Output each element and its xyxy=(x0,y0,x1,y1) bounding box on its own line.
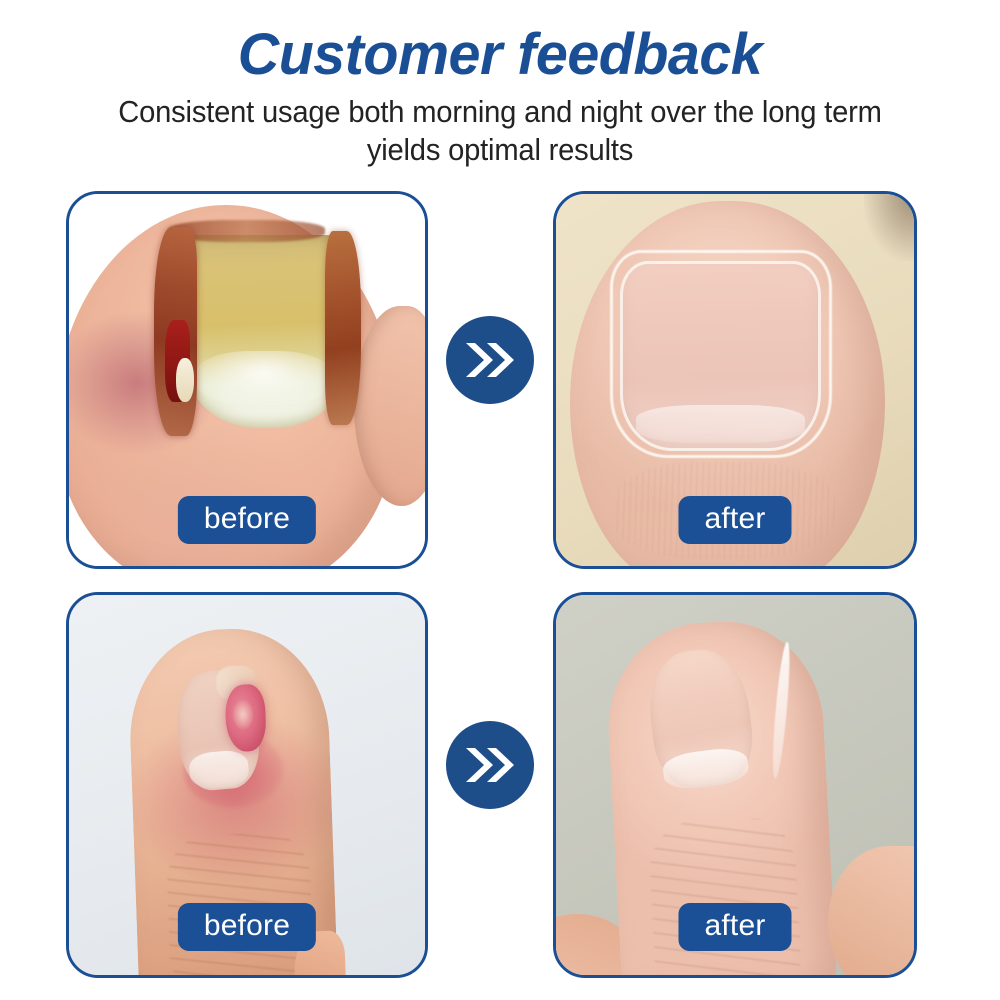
healthy-fingernail-plate xyxy=(643,644,758,792)
before-label-badge: before xyxy=(178,903,316,951)
before-after-grid: before after xyxy=(0,0,1000,1000)
nail-free-edge-highlight xyxy=(770,641,793,778)
double-chevron-right-icon xyxy=(446,721,534,809)
nail-cuticle-outline xyxy=(610,250,832,458)
comparison-fingernail-after-card: after xyxy=(553,592,917,978)
discolored-nail-plate xyxy=(186,235,346,428)
after-label-badge: after xyxy=(678,903,791,951)
finger-crease-lines xyxy=(648,815,803,975)
pus-spot xyxy=(176,358,194,403)
double-chevron-right-icon xyxy=(446,316,534,404)
photo-corner-shadow xyxy=(864,194,914,261)
customer-feedback-page: Customer feedback Consistent usage both … xyxy=(0,0,1000,1000)
before-label-badge: before xyxy=(178,496,316,544)
inflamed-right-nail-fold xyxy=(325,231,361,424)
comparison-toenail-before-card: before xyxy=(66,191,428,569)
after-label-badge: after xyxy=(678,496,791,544)
comparison-fingernail-before-card: before xyxy=(66,592,428,978)
knuckle-shape xyxy=(828,846,914,975)
comparison-toenail-after-card: after xyxy=(553,191,917,569)
